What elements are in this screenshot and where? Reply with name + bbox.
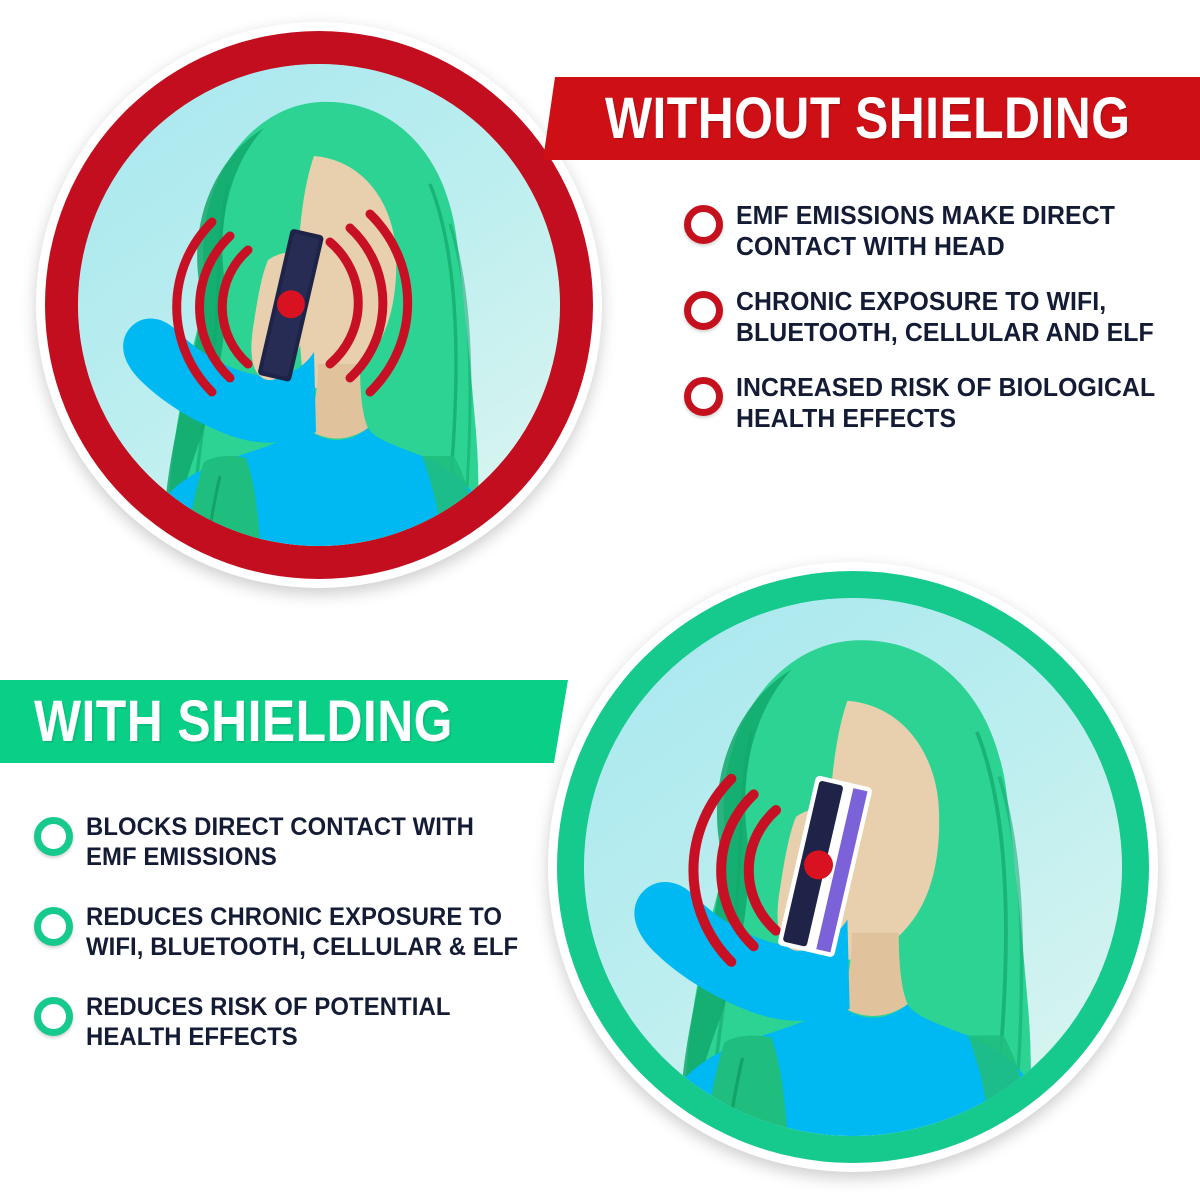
banner-with-shielding: WITH SHIELDING [0, 680, 568, 763]
bullet-item-with-2: REDUCES CHRONIC EXPOSURE TO WIFI, BLUETO… [34, 902, 564, 962]
bullet-item-without-3: INCREASED RISK OF BIOLOGICAL HEALTH EFFE… [684, 372, 1184, 434]
bullet-line: INCREASED RISK OF BIOLOGICAL [736, 372, 1155, 402]
woman-phone-unshielded-illustration [78, 64, 560, 546]
medallion-disc-bottom [584, 598, 1122, 1136]
bullet-line: REDUCES CHRONIC EXPOSURE TO [86, 903, 502, 931]
bullet-list-without-shielding: EMF EMISSIONS MAKE DIRECT CONTACT WITH H… [684, 200, 1184, 458]
infographic-canvas: WITHOUT SHIELDING EMF EMISSIONS MAKE DIR… [0, 0, 1200, 1200]
bullet-line: CONTACT WITH HEAD [736, 231, 1005, 261]
bullet-text-without-2: CHRONIC EXPOSURE TO WIFI, BLUETOOTH, CEL… [736, 286, 1154, 348]
bullet-item-without-2: CHRONIC EXPOSURE TO WIFI, BLUETOOTH, CEL… [684, 286, 1184, 348]
bullet-item-with-3: REDUCES RISK OF POTENTIAL HEALTH EFFECTS [34, 992, 564, 1052]
ring-bullet-icon [684, 291, 723, 330]
banner-with-shielding-label: WITH SHIELDING [34, 693, 453, 751]
bullet-item-with-1: BLOCKS DIRECT CONTACT WITH EMF EMISSIONS [34, 812, 564, 872]
bullet-line: WIFI, BLUETOOTH, CELLULAR & ELF [86, 933, 518, 961]
bullet-line: BLUETOOTH, CELLULAR AND ELF [736, 317, 1154, 347]
ring-bullet-icon [34, 907, 73, 946]
bullet-line: EMF EMISSIONS [86, 843, 277, 871]
bullet-text-with-2: REDUCES CHRONIC EXPOSURE TO WIFI, BLUETO… [86, 902, 518, 962]
ring-bullet-icon [34, 997, 73, 1036]
bullet-item-without-1: EMF EMISSIONS MAKE DIRECT CONTACT WITH H… [684, 200, 1184, 262]
ring-bullet-icon [684, 205, 723, 244]
bullet-text-without-1: EMF EMISSIONS MAKE DIRECT CONTACT WITH H… [736, 200, 1115, 262]
bullet-line: HEALTH EFFECTS [86, 1023, 298, 1051]
bullet-text-with-1: BLOCKS DIRECT CONTACT WITH EMF EMISSIONS [86, 812, 474, 872]
bullet-line: EMF EMISSIONS MAKE DIRECT [736, 200, 1115, 230]
bullet-text-without-3: INCREASED RISK OF BIOLOGICAL HEALTH EFFE… [736, 372, 1155, 434]
bullet-line: CHRONIC EXPOSURE TO WIFI, [736, 286, 1106, 316]
banner-without-shielding-label: WITHOUT SHIELDING [605, 90, 1130, 148]
woman-phone-shielded-illustration [584, 598, 1122, 1136]
bullet-line: BLOCKS DIRECT CONTACT WITH [86, 813, 474, 841]
illustration-shielded-medallion [548, 562, 1158, 1172]
bullet-text-with-3: REDUCES RISK OF POTENTIAL HEALTH EFFECTS [86, 992, 451, 1052]
ring-bullet-icon [684, 377, 723, 416]
banner-without-shielding: WITHOUT SHIELDING [543, 77, 1200, 160]
medallion-disc-top [78, 64, 560, 546]
ring-bullet-icon [34, 817, 73, 856]
bullet-line: HEALTH EFFECTS [736, 403, 956, 433]
bullet-list-with-shielding: BLOCKS DIRECT CONTACT WITH EMF EMISSIONS… [34, 812, 564, 1082]
bullet-line: REDUCES RISK OF POTENTIAL [86, 993, 451, 1021]
illustration-unshielded-medallion [36, 22, 602, 588]
